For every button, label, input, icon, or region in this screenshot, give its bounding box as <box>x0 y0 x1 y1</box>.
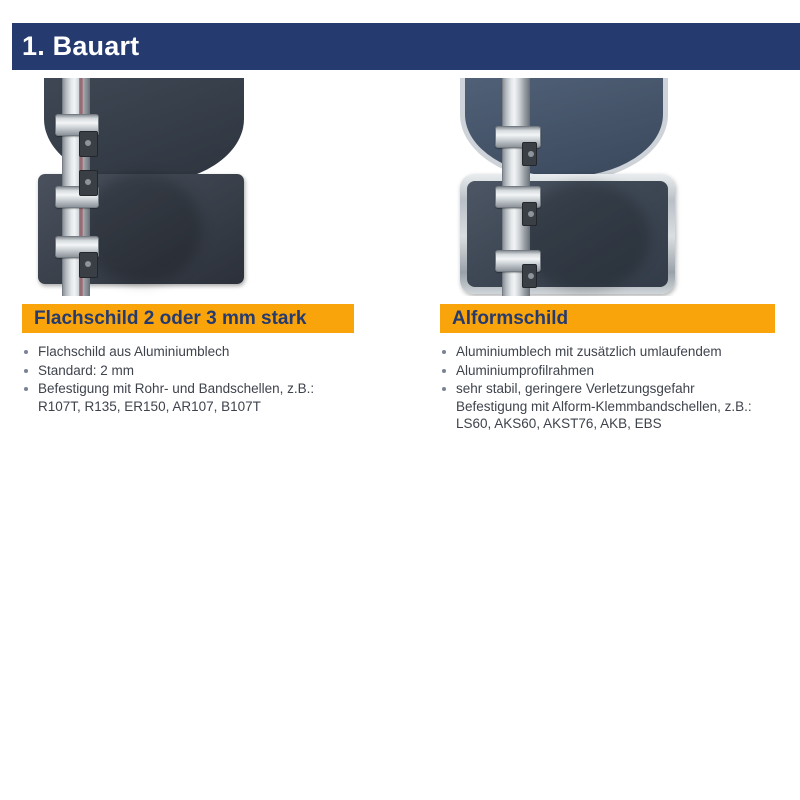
pipe-clamp-tab-3 <box>79 252 98 278</box>
bullet-text: Flachschild aus Aluminiumblech <box>38 344 229 359</box>
subhead-alformschild: Alformschild <box>440 304 775 333</box>
bullet-text-continuation: Befestigung mit Alform-Klemmbandschellen… <box>456 398 775 416</box>
bullet-text: Aluminiumblech mit zusätzlich umlaufende… <box>456 344 722 359</box>
list-item: Standard: 2 mm <box>22 362 354 380</box>
plate-shadow <box>82 174 202 284</box>
list-item: Befestigung mit Rohr- und Bandschellen, … <box>22 380 354 415</box>
page-title: 1. Bauart <box>12 33 139 60</box>
alform-clamp-tab-2 <box>522 202 537 226</box>
bullet-text: sehr stabil, geringere Verletzungsgefahr <box>456 381 695 396</box>
bullet-text: Aluminiumprofilrahmen <box>456 363 594 378</box>
alform-clamp-tab-3 <box>522 264 537 288</box>
list-item: Flachschild aus Aluminiumblech <box>22 343 354 361</box>
alform-clamp-tab-1 <box>522 142 537 166</box>
bullet-text-continuation-2: LS60, AKS60, AKST76, AKB, EBS <box>456 415 775 433</box>
bullet-text: Befestigung mit Rohr- und Bandschellen, … <box>38 381 314 396</box>
section-header: 1. Bauart <box>12 23 800 70</box>
list-item: sehr stabil, geringere Verletzungsgefahr… <box>440 380 775 433</box>
bullets-flachschild: Flachschild aus Aluminiumblech Standard:… <box>22 343 354 415</box>
pipe-clamp-tab-1 <box>79 131 98 157</box>
column-alformschild: Alformschild Aluminiumblech mit zusätzli… <box>440 78 775 434</box>
round-sign-shape <box>460 78 668 182</box>
list-item: Aluminiumblech mit zusätzlich umlaufende… <box>440 343 775 361</box>
subhead-flachschild: Flachschild 2 oder 3 mm stark <box>22 304 354 333</box>
list-item: Aluminiumprofilrahmen <box>440 362 775 380</box>
subhead-alformschild-label: Alformschild <box>440 309 568 328</box>
pipe-clamp-tab-2 <box>79 170 98 196</box>
bullet-text-continuation: R107T, R135, ER150, AR107, B107T <box>38 398 354 416</box>
bullet-text: Standard: 2 mm <box>38 363 134 378</box>
bullets-alformschild: Aluminiumblech mit zusätzlich umlaufende… <box>440 343 775 433</box>
alformschild-photo <box>440 78 775 296</box>
subhead-flachschild-label: Flachschild 2 oder 3 mm stark <box>22 309 306 328</box>
flachschild-photo <box>22 78 354 296</box>
column-flachschild: Flachschild 2 oder 3 mm stark Flachschil… <box>22 78 354 416</box>
